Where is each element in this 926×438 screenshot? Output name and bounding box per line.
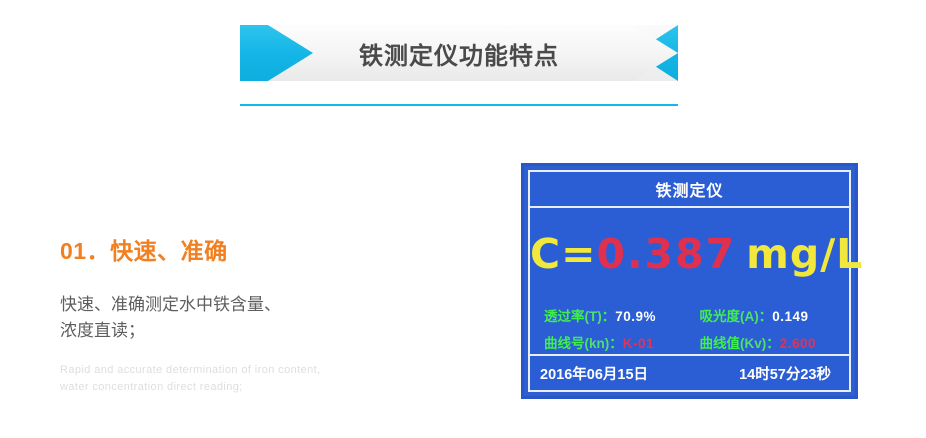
metric-value: 2.600: [780, 336, 816, 351]
metric-label: 透过率: [544, 309, 585, 324]
metric-symbol: (Kv): [740, 336, 766, 351]
metric-curve-value: 曲线值(Kv)：2.600: [682, 337, 838, 352]
metric-curve-number: 曲线号(kn)：K-01: [544, 337, 682, 352]
metric-absorbance: 吸光度(A)：0.149: [682, 310, 838, 325]
feature-heading: 01．快速、准确: [60, 238, 460, 266]
section-header-banner: 铁测定仪功能特点: [240, 25, 678, 81]
metric-separator: ：: [766, 336, 780, 351]
metric-value: 70.9%: [615, 309, 656, 324]
instrument-screen: 铁测定仪 C=0.387mg/L 透过率(T)：70.9% 吸光度(A)：0.1…: [528, 170, 851, 392]
status-date: 2016年06月15日: [540, 363, 648, 384]
page-title: 铁测定仪功能特点: [240, 25, 678, 81]
metric-transmittance: 透过率(T)：70.9%: [544, 310, 682, 325]
metrics-row-1: 透过率(T)：70.9% 吸光度(A)：0.149: [544, 310, 837, 325]
metric-value: K-01: [623, 336, 654, 351]
header-divider: [240, 104, 678, 106]
metric-symbol: (T): [585, 309, 602, 324]
metric-separator: ：: [602, 309, 616, 324]
metric-symbol: (A): [740, 309, 759, 324]
status-time: 14时57分23秒: [739, 363, 839, 384]
metric-value: 0.149: [772, 309, 808, 324]
metric-symbol: (kn): [585, 336, 610, 351]
feature-description: 快速、准确测定水中铁含量、 浓度直读；: [60, 292, 460, 345]
metric-separator: ：: [609, 336, 623, 351]
instrument-readout-area: C=0.387mg/L 透过率(T)：70.9% 吸光度(A)：0.149 曲线…: [530, 208, 849, 356]
metrics-grid: 透过率(T)：70.9% 吸光度(A)：0.149 曲线号(kn)：K-01 曲…: [544, 310, 837, 364]
concentration-reading: C=0.387mg/L: [530, 234, 849, 275]
metrics-row-2: 曲线号(kn)：K-01 曲线值(Kv)：2.600: [544, 337, 837, 352]
instrument-display-panel: 铁测定仪 C=0.387mg/L 透过率(T)：70.9% 吸光度(A)：0.1…: [521, 163, 858, 399]
concentration-label: C=: [530, 230, 596, 278]
concentration-value: 0.387: [596, 230, 736, 278]
feature-description-english: Rapid and accurate determination of iron…: [60, 362, 460, 395]
feature-block: 01．快速、准确 快速、准确测定水中铁含量、 浓度直读； Rapid and a…: [60, 238, 460, 395]
metric-separator: ：: [759, 309, 773, 324]
concentration-unit: mg/L: [746, 230, 863, 278]
metric-label: 曲线值: [700, 336, 741, 351]
metric-label: 曲线号: [544, 336, 585, 351]
metric-label: 吸光度: [700, 309, 741, 324]
instrument-title: 铁测定仪: [530, 172, 849, 208]
